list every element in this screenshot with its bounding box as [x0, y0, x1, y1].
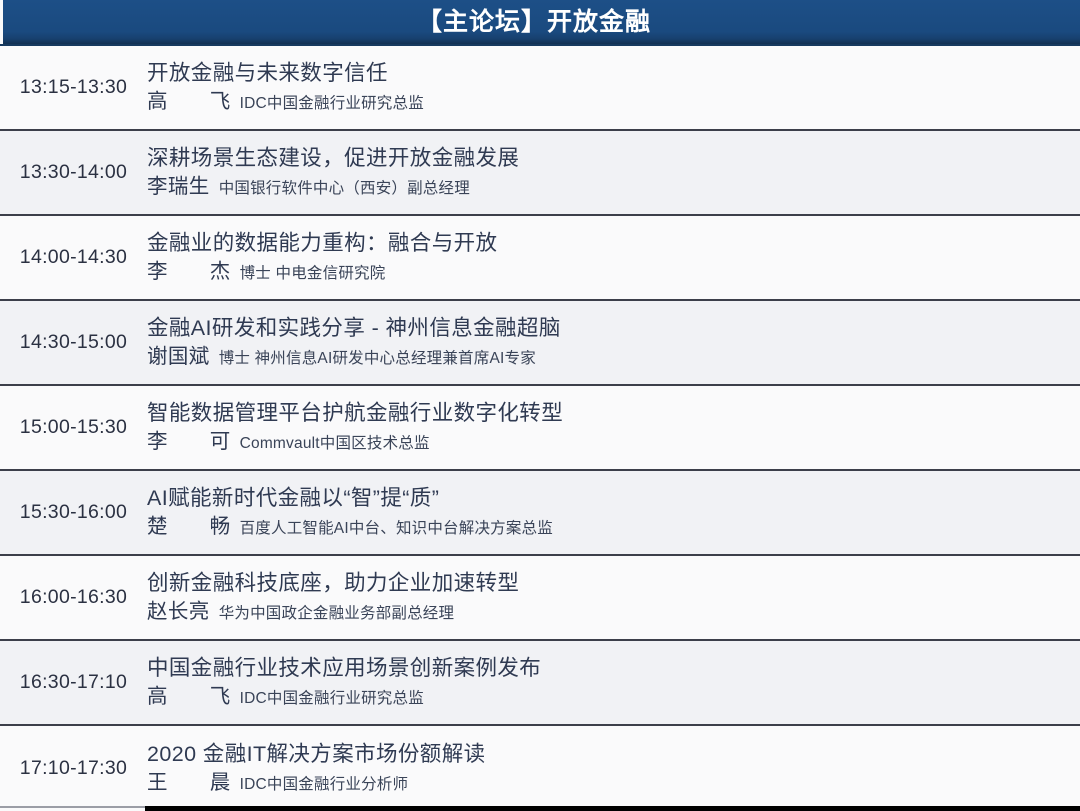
agenda-rows: 13:15-13:30 开放金融与未来数字信任 高 飞 IDC中国金融行业研究总… [0, 46, 1080, 811]
session-meta: 高 飞 IDC中国金融行业研究总监 [147, 684, 1062, 711]
speaker-name: 谢国斌 [147, 344, 210, 371]
bottom-divider-left [0, 806, 145, 808]
session-meta: 赵长亮 华为中国政企金融业务部副总经理 [147, 599, 1062, 626]
session-meta: 高 飞 IDC中国金融行业研究总监 [147, 89, 1062, 116]
session-time: 15:00-15:30 [0, 417, 147, 438]
agenda-table: 【主论坛】开放金融 13:15-13:30 开放金融与未来数字信任 高 飞 ID… [0, 0, 1080, 811]
speaker-affiliation: IDC中国金融行业分析师 [240, 775, 409, 795]
session-meta: 谢国斌 博士 神州信息AI研发中心总经理兼首席AI专家 [147, 344, 1062, 371]
session-body: 开放金融与未来数字信任 高 飞 IDC中国金融行业研究总监 [147, 59, 1080, 116]
table-row: 14:00-14:30 金融业的数据能力重构：融合与开放 李 杰 博士 中电金信… [0, 216, 1080, 301]
session-time: 16:30-17:10 [0, 672, 147, 693]
table-row: 15:00-15:30 智能数据管理平台护航金融行业数字化转型 李 可 Comm… [0, 386, 1080, 471]
session-title: 创新金融科技底座，助力企业加速转型 [147, 569, 1062, 597]
speaker-name: 王 晨 [147, 770, 231, 797]
speaker-affiliation: 百度人工智能AI中台、知识中台解决方案总监 [240, 519, 553, 539]
session-body: AI赋能新时代金融以“智”提“质” 楚 畅 百度人工智能AI中台、知识中台解决方… [147, 484, 1080, 541]
speaker-affiliation: IDC中国金融行业研究总监 [240, 94, 424, 114]
table-row: 14:30-15:00 金融AI研发和实践分享 - 神州信息金融超脑 谢国斌 博… [0, 301, 1080, 386]
session-body: 中国金融行业技术应用场景创新案例发布 高 飞 IDC中国金融行业研究总监 [147, 654, 1080, 711]
session-title: 金融AI研发和实践分享 - 神州信息金融超脑 [147, 314, 1062, 342]
session-meta: 李瑞生 中国银行软件中心（西安）副总经理 [147, 174, 1062, 201]
session-meta: 王 晨 IDC中国金融行业分析师 [147, 770, 1062, 797]
speaker-name: 李 杰 [147, 259, 231, 286]
session-time: 14:30-15:00 [0, 332, 147, 353]
session-meta: 楚 畅 百度人工智能AI中台、知识中台解决方案总监 [147, 514, 1062, 541]
speaker-name: 高 飞 [147, 684, 231, 711]
session-body: 智能数据管理平台护航金融行业数字化转型 李 可 Commvault中国区技术总监 [147, 399, 1080, 456]
session-time: 17:10-17:30 [0, 758, 147, 779]
session-body: 金融业的数据能力重构：融合与开放 李 杰 博士 中电金信研究院 [147, 229, 1080, 286]
speaker-affiliation: 博士 神州信息AI研发中心总经理兼首席AI专家 [219, 349, 536, 369]
session-time: 13:30-14:00 [0, 162, 147, 183]
session-title: 中国金融行业技术应用场景创新案例发布 [147, 654, 1062, 682]
speaker-affiliation: IDC中国金融行业研究总监 [240, 689, 424, 709]
session-meta: 李 可 Commvault中国区技术总监 [147, 429, 1062, 456]
table-row: 16:30-17:10 中国金融行业技术应用场景创新案例发布 高 飞 IDC中国… [0, 641, 1080, 726]
speaker-affiliation: Commvault中国区技术总监 [240, 434, 430, 454]
session-time: 14:00-14:30 [0, 247, 147, 268]
session-body: 创新金融科技底座，助力企业加速转型 赵长亮 华为中国政企金融业务部副总经理 [147, 569, 1080, 626]
session-time: 16:00-16:30 [0, 587, 147, 608]
session-title: 智能数据管理平台护航金融行业数字化转型 [147, 399, 1062, 427]
session-title: 深耕场景生态建设，促进开放金融发展 [147, 144, 1062, 172]
table-row: 13:15-13:30 开放金融与未来数字信任 高 飞 IDC中国金融行业研究总… [0, 46, 1080, 131]
session-body: 金融AI研发和实践分享 - 神州信息金融超脑 谢国斌 博士 神州信息AI研发中心… [147, 314, 1080, 371]
session-title: AI赋能新时代金融以“智”提“质” [147, 484, 1062, 512]
session-meta: 李 杰 博士 中电金信研究院 [147, 259, 1062, 286]
table-row: 17:10-17:30 2020 金融IT解决方案市场份额解读 王 晨 IDC中… [0, 726, 1080, 811]
forum-header-bar: 【主论坛】开放金融 [0, 0, 1080, 46]
table-row: 16:00-16:30 创新金融科技底座，助力企业加速转型 赵长亮 华为中国政企… [0, 556, 1080, 641]
session-title: 开放金融与未来数字信任 [147, 59, 1062, 87]
speaker-name: 李 可 [147, 429, 231, 456]
session-body: 深耕场景生态建设，促进开放金融发展 李瑞生 中国银行软件中心（西安）副总经理 [147, 144, 1080, 201]
speaker-name: 赵长亮 [147, 599, 210, 626]
session-title: 金融业的数据能力重构：融合与开放 [147, 229, 1062, 257]
bottom-divider-right [145, 806, 1080, 811]
table-row: 13:30-14:00 深耕场景生态建设，促进开放金融发展 李瑞生 中国银行软件… [0, 131, 1080, 216]
speaker-affiliation: 中国银行软件中心（西安）副总经理 [219, 179, 470, 199]
speaker-name: 高 飞 [147, 89, 231, 116]
session-time: 13:15-13:30 [0, 77, 147, 98]
page-title: 【主论坛】开放金融 [417, 10, 651, 35]
speaker-affiliation: 博士 中电金信研究院 [240, 264, 386, 284]
speaker-name: 楚 畅 [147, 514, 231, 541]
session-body: 2020 金融IT解决方案市场份额解读 王 晨 IDC中国金融行业分析师 [147, 740, 1080, 797]
speaker-affiliation: 华为中国政企金融业务部副总经理 [219, 604, 455, 624]
speaker-name: 李瑞生 [147, 174, 210, 201]
table-row: 15:30-16:00 AI赋能新时代金融以“智”提“质” 楚 畅 百度人工智能… [0, 471, 1080, 556]
session-time: 15:30-16:00 [0, 502, 147, 523]
session-title: 2020 金融IT解决方案市场份额解读 [147, 740, 1062, 768]
